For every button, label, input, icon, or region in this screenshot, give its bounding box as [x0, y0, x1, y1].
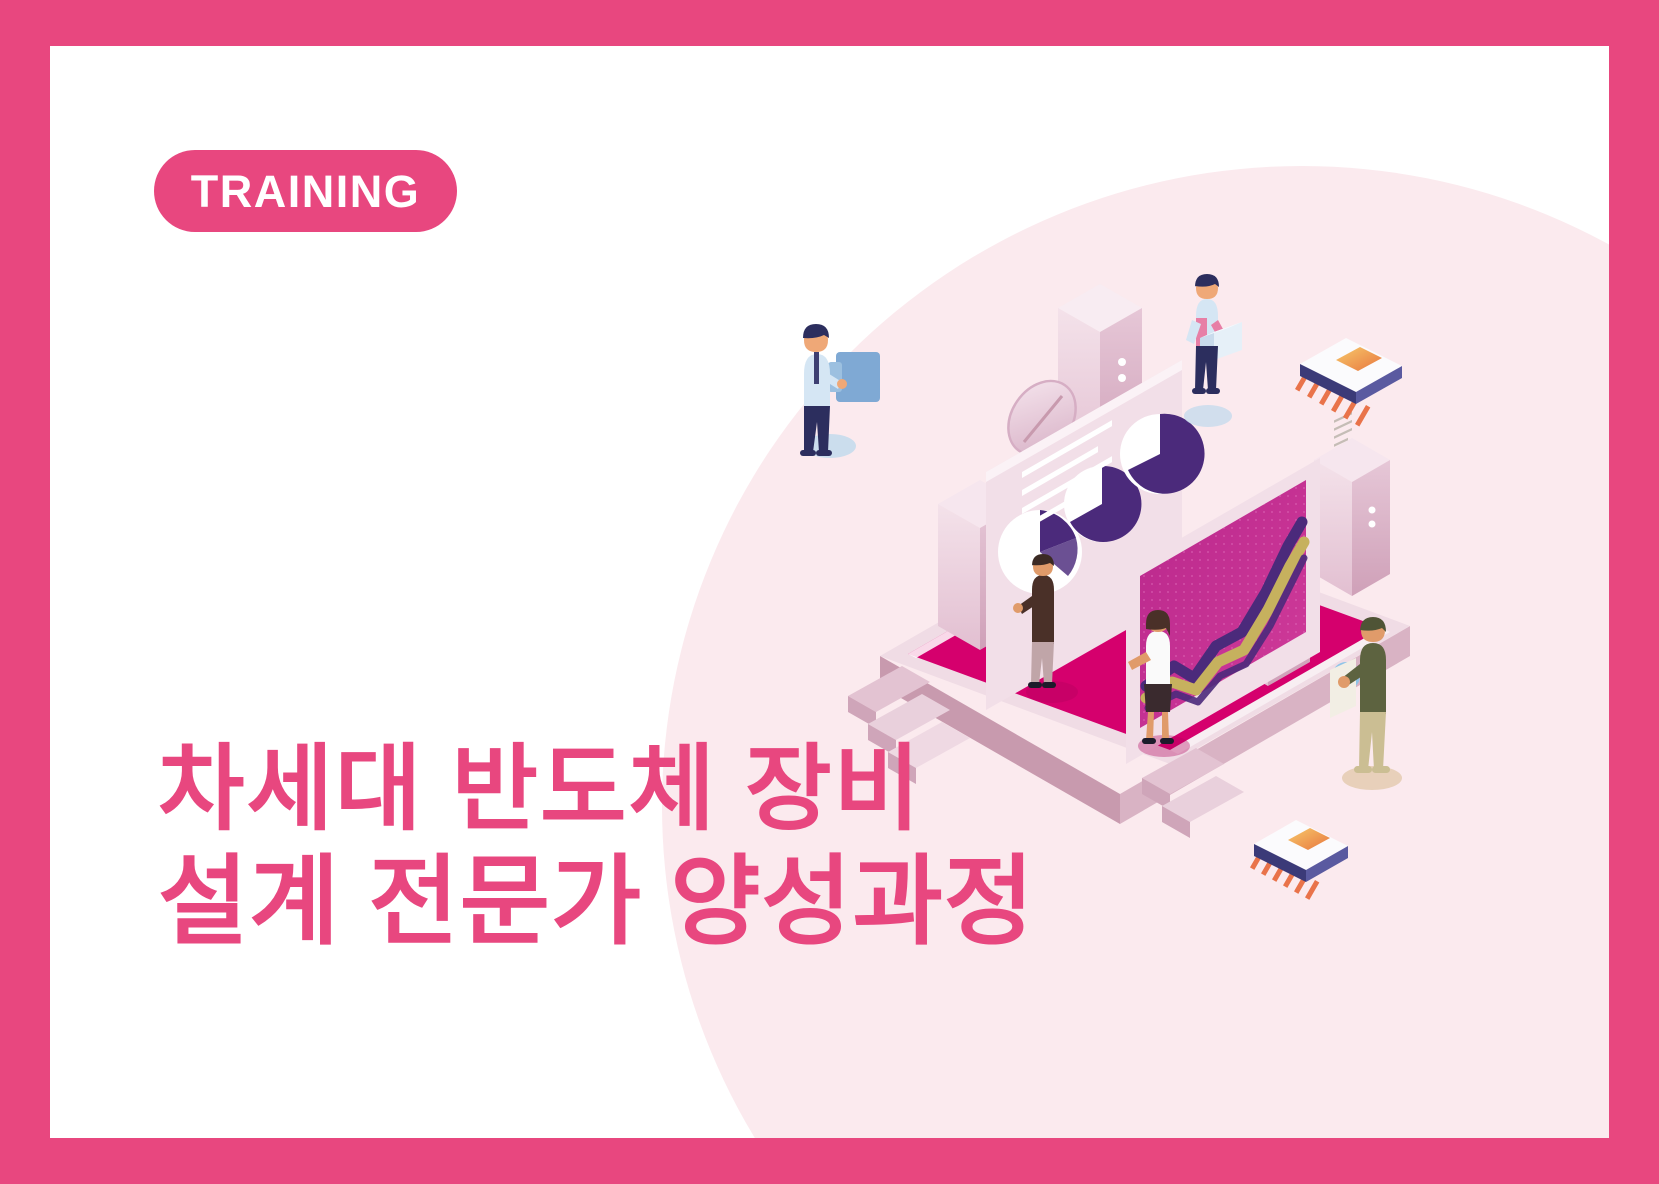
- chip-icon-lower-right: [1250, 820, 1348, 900]
- headline-line-1: 차세대 반도체 장비: [158, 736, 1208, 841]
- person-with-monitor: [800, 324, 880, 458]
- poster-root: TRAINING 차세대 반도체 장비 설계 전문가 양성과정: [0, 0, 1659, 1184]
- chip-icon-upper-right: [1295, 338, 1402, 427]
- poster-inner-canvas: TRAINING 차세대 반도체 장비 설계 전문가 양성과정: [50, 46, 1609, 1138]
- person-carrying-box: [1184, 274, 1242, 427]
- pie-chart-3: [1120, 414, 1205, 494]
- tower-far-right: [1314, 438, 1390, 596]
- training-badge[interactable]: TRAINING: [154, 150, 457, 232]
- headline-block: 차세대 반도체 장비 설계 전문가 양성과정: [158, 736, 1208, 957]
- training-badge-label: TRAINING: [191, 169, 421, 214]
- headline-line-2: 설계 전문가 양성과정: [158, 847, 1208, 957]
